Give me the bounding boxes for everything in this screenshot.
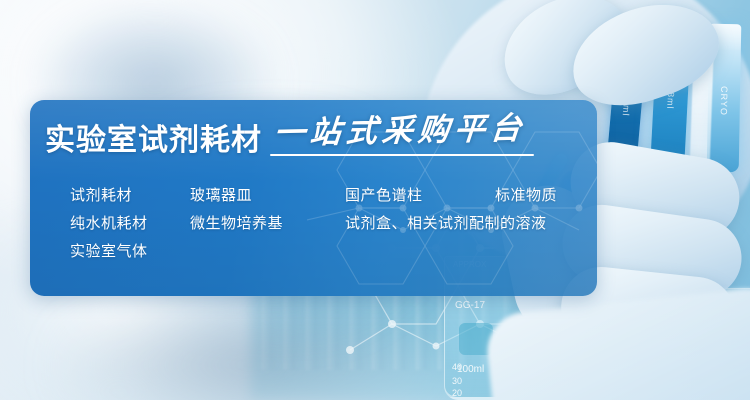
background-blur-blob-d [60, 300, 440, 400]
category-reagent-kits-solutions[interactable]: 试剂盒、相关试剂配制的溶液 [345, 212, 595, 233]
banner-title: 实验室试剂耗材 一站式采购平台 [45, 116, 526, 156]
title-underline [270, 154, 534, 157]
category-grid: 试剂耗材 玻璃器皿 国产色谱柱 标准物质 纯水机耗材 微生物培养基 试剂盒、相关… [40, 180, 596, 264]
vial-label-3: CRYO [719, 86, 730, 116]
promo-banner: 250 200 150 100 50 APPROX GG-17 100ml SL… [0, 0, 750, 400]
category-domestic-chromatography-column[interactable]: 国产色谱柱 [345, 184, 495, 205]
category-row-1: 试剂耗材 玻璃器皿 国产色谱柱 标准物质 [40, 180, 596, 208]
title-calligraphy: 一站式采购平台 [272, 113, 527, 149]
category-laboratory-gases[interactable]: 实验室气体 [40, 240, 190, 261]
promo-panel: 实验室试剂耗材 一站式采购平台 试剂耗材 玻璃器皿 国产色谱柱 标准物质 纯水机… [30, 100, 597, 296]
category-row-3: 实验室气体 [40, 236, 596, 264]
title-primary: 实验室试剂耗材 [45, 126, 262, 156]
title-script-wrapper: 一站式采购平台 [274, 116, 526, 156]
category-row-2: 纯水机耗材 微生物培养基 试剂盒、相关试剂配制的溶液 [40, 208, 596, 236]
category-reagent-consumables[interactable]: 试剂耗材 [40, 184, 190, 205]
category-microbial-culture-media[interactable]: 微生物培养基 [190, 212, 345, 233]
category-glassware[interactable]: 玻璃器皿 [190, 184, 345, 205]
category-water-purifier-consumables[interactable]: 纯水机耗材 [40, 212, 190, 233]
category-reference-materials[interactable]: 标准物质 [495, 184, 595, 205]
